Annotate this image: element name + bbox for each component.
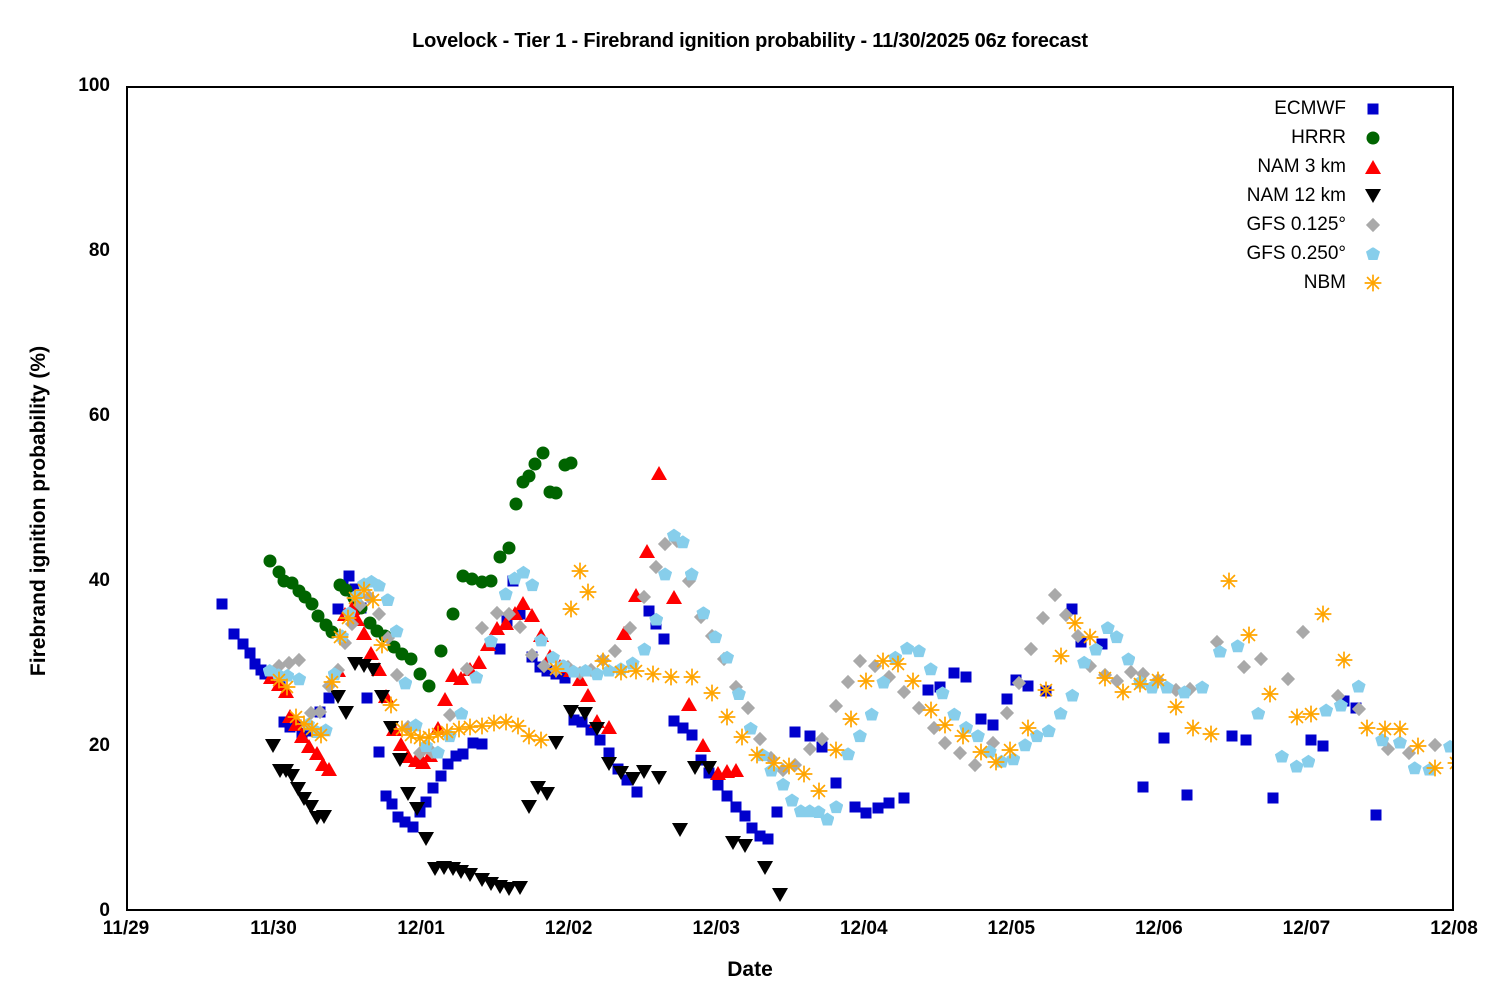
marker-asterisk — [1359, 720, 1376, 737]
x-tick-label: 12/06 — [1099, 918, 1219, 940]
y-tick-label: 100 — [20, 75, 110, 97]
marker-asterisk — [828, 742, 845, 759]
x-tick-label: 12/07 — [1246, 918, 1366, 940]
legend-symbol — [1346, 239, 1400, 268]
legend-symbol — [1346, 94, 1400, 123]
marker-asterisk — [1409, 737, 1426, 754]
marker-diamond — [1366, 217, 1380, 231]
marker-asterisk — [1185, 720, 1202, 737]
marker-asterisk — [1220, 573, 1237, 590]
marker-asterisk — [663, 669, 680, 686]
marker-asterisk — [955, 728, 972, 745]
marker-asterisk — [339, 609, 356, 626]
marker-asterisk — [1315, 605, 1332, 622]
legend-symbol — [1346, 181, 1400, 210]
marker-asterisk — [373, 636, 390, 653]
marker-triangle-up — [1365, 160, 1381, 174]
legend-item-nbm[interactable]: NBM — [1178, 268, 1400, 297]
x-tick-label: 12/03 — [656, 918, 776, 940]
x-tick-label: 11/29 — [66, 918, 186, 940]
chart-title: Lovelock - Tier 1 - Firebrand ignition p… — [0, 30, 1500, 53]
marker-asterisk — [719, 709, 736, 726]
marker-asterisk — [1335, 651, 1352, 668]
marker-pentagon — [1366, 247, 1380, 260]
marker-asterisk — [810, 782, 827, 799]
marker-asterisk — [683, 669, 700, 686]
legend-label: GFS 0.125° — [1247, 214, 1346, 236]
marker-asterisk — [1391, 721, 1408, 738]
marker-asterisk — [904, 673, 921, 690]
marker-asterisk — [562, 601, 579, 618]
y-tick-label: 60 — [20, 405, 110, 427]
marker-asterisk — [733, 729, 750, 746]
marker-asterisk — [1427, 759, 1444, 776]
marker-asterisk — [645, 665, 662, 682]
legend-label: GFS 0.250° — [1247, 243, 1346, 265]
marker-asterisk — [364, 592, 381, 609]
marker-asterisk — [1052, 647, 1069, 664]
legend-symbol — [1346, 152, 1400, 181]
marker-square — [1368, 103, 1379, 114]
y-tick-label: 40 — [20, 570, 110, 592]
marker-asterisk — [1149, 671, 1166, 688]
chart-legend: ECMWFHRRRNAM 3 kmNAM 12 kmGFS 0.125°GFS … — [1178, 94, 1400, 297]
y-tick-label: 80 — [20, 240, 110, 262]
marker-asterisk — [1167, 698, 1184, 715]
marker-asterisk — [1082, 628, 1099, 645]
marker-asterisk — [580, 584, 597, 601]
marker-triangle-down — [1365, 189, 1381, 203]
legend-label: ECMWF — [1274, 98, 1346, 120]
y-tick-label: 20 — [20, 735, 110, 757]
x-tick-label: 12/05 — [951, 918, 1071, 940]
marker-asterisk — [857, 673, 874, 690]
marker-asterisk — [313, 726, 330, 743]
marker-asterisk — [323, 674, 340, 691]
marker-asterisk — [1303, 706, 1320, 723]
marker-asterisk — [595, 653, 612, 670]
legend-symbol — [1346, 268, 1400, 297]
marker-asterisk — [1114, 683, 1131, 700]
marker-asterisk — [382, 697, 399, 714]
legend-item-hrrr[interactable]: HRRR — [1178, 123, 1400, 152]
marker-asterisk — [795, 766, 812, 783]
marker-asterisk — [332, 628, 349, 645]
marker-asterisk — [704, 684, 721, 701]
marker-asterisk — [627, 663, 644, 680]
legend-item-nam-3-km[interactable]: NAM 3 km — [1178, 152, 1400, 181]
legend-item-gfs-0-250[interactable]: GFS 0.250° — [1178, 239, 1400, 268]
x-tick-label: 12/01 — [361, 918, 481, 940]
marker-asterisk — [843, 711, 860, 728]
marker-asterisk — [547, 660, 564, 677]
legend-item-nam-12-km[interactable]: NAM 12 km — [1178, 181, 1400, 210]
marker-asterisk — [890, 655, 907, 672]
marker-asterisk — [1448, 754, 1453, 771]
x-tick-label: 12/08 — [1394, 918, 1500, 940]
legend-label: HRRR — [1291, 127, 1346, 149]
marker-asterisk — [1241, 626, 1258, 643]
x-axis-title: Date — [0, 958, 1500, 982]
marker-asterisk — [1262, 685, 1279, 702]
marker-asterisk — [937, 716, 954, 733]
marker-asterisk — [571, 563, 588, 580]
chart-root: Lovelock - Tier 1 - Firebrand ignition p… — [0, 0, 1500, 1000]
legend-item-gfs-0-125[interactable]: GFS 0.125° — [1178, 210, 1400, 239]
marker-asterisk — [1096, 669, 1113, 686]
legend-label: NAM 3 km — [1257, 156, 1346, 178]
marker-asterisk — [533, 731, 550, 748]
legend-label: NAM 12 km — [1247, 185, 1346, 207]
marker-asterisk — [1203, 725, 1220, 742]
legend-label: NBM — [1304, 272, 1346, 294]
marker-asterisk — [1020, 720, 1037, 737]
legend-item-ecmwf[interactable]: ECMWF — [1178, 94, 1400, 123]
marker-asterisk — [1365, 274, 1382, 291]
marker-asterisk — [1002, 741, 1019, 758]
marker-asterisk — [748, 746, 765, 763]
x-tick-label: 12/04 — [804, 918, 924, 940]
marker-asterisk — [1132, 676, 1149, 693]
legend-symbol — [1346, 210, 1400, 239]
x-tick-label: 11/30 — [214, 918, 334, 940]
legend-symbol — [1346, 123, 1400, 152]
x-tick-label: 12/02 — [509, 918, 629, 940]
marker-asterisk — [279, 678, 296, 695]
marker-circle — [1367, 131, 1380, 144]
marker-asterisk — [1037, 682, 1054, 699]
